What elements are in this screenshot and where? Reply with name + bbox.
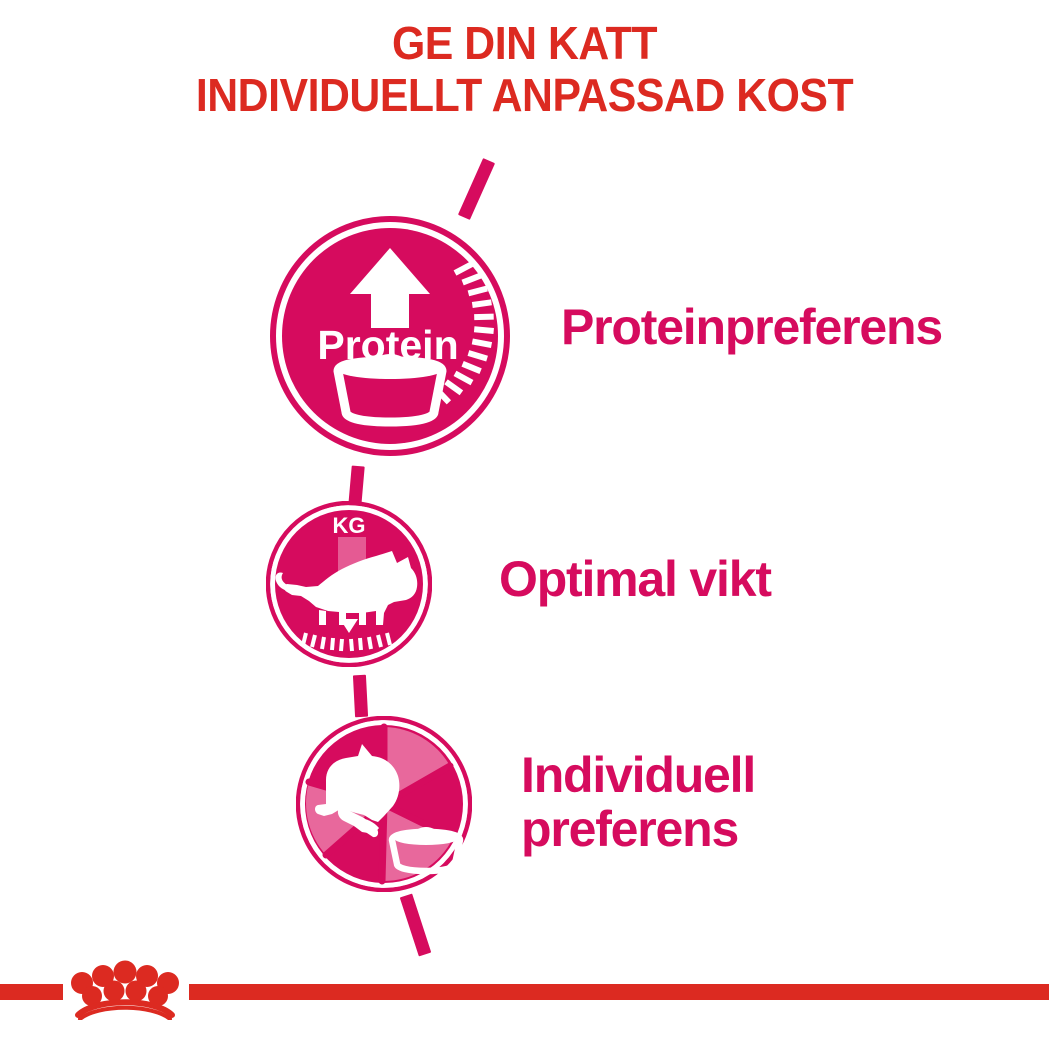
page-title-line-2: INDIVIDUELLT ANPASSAD KOST <box>37 70 1013 122</box>
dash-segment-2-3 <box>353 675 368 718</box>
royal-canin-crown-logo <box>64 952 186 1025</box>
page-title-line-1: GE DIN KATT <box>37 18 1013 70</box>
dash-segment-top <box>458 158 495 220</box>
footer-rule-right <box>189 984 1049 1000</box>
page-title: GE DIN KATT INDIVIDUELLT ANPASSAD KOST <box>37 18 1013 121</box>
protein-preference-icon: Protein <box>270 216 510 456</box>
benefit-label-3: Individuell preferens <box>521 748 941 856</box>
individual-preference-icon <box>296 716 472 892</box>
kg-icon-label: KG <box>333 513 366 538</box>
infographic-page: GE DIN KATT INDIVIDUELLT ANPASSAD KOST <box>0 0 1049 1049</box>
footer-rule-left <box>0 984 63 1000</box>
benefit-label-2: Optimal vikt <box>499 552 919 606</box>
optimal-weight-icon: KG <box>266 501 432 667</box>
benefit-label-1: Proteinpreferens <box>561 300 1031 354</box>
